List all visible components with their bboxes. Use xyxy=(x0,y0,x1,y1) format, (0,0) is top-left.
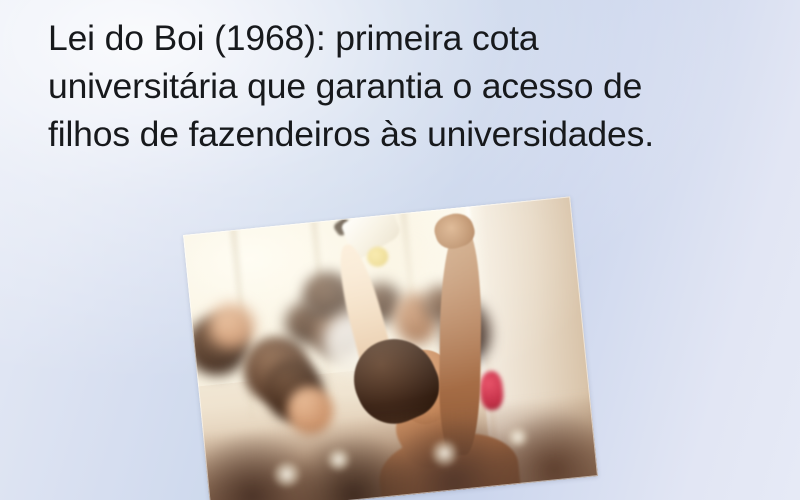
slide-text-line-2: universitária que garantia o acesso de xyxy=(48,62,760,110)
slide-text-line-3: filhos de fazendeiros às universidades. xyxy=(48,110,760,158)
presentation-slide: Lei do Boi (1968): primeira cota univers… xyxy=(0,0,800,500)
photo-canvas xyxy=(183,196,598,500)
slide-text-block: Lei do Boi (1968): primeira cota univers… xyxy=(48,14,760,158)
slide-photo xyxy=(183,196,598,500)
slide-text-line-1: Lei do Boi (1968): primeira cota xyxy=(48,14,760,62)
